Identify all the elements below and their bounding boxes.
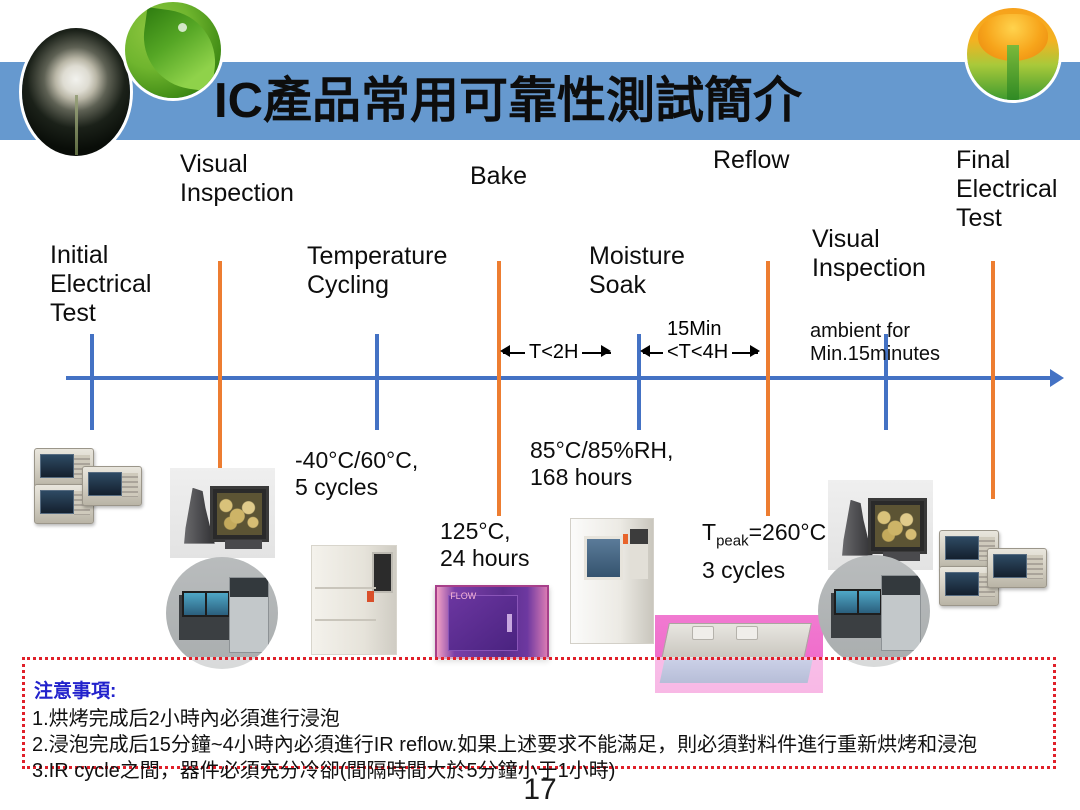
stage-label-visual-inspection-1: Visual Inspection [180, 150, 380, 208]
tpeak-value: =260°C [749, 519, 827, 545]
condition-reflow-tpeak: Tpeak=260°C [702, 519, 826, 550]
condition-moisture-soak: 85°C/85%RH, 168 hours [530, 437, 750, 490]
interval-label-t-lt-4h: <T<4H [663, 341, 732, 364]
notes-line-1: 1.烘烤完成后2小時內必須進行浸泡 [32, 702, 340, 731]
notes-title: 注意事項: [34, 676, 116, 703]
interval-arrow-left-soak-to-reflow [640, 345, 650, 357]
aoi-station-photo-1 [166, 557, 278, 669]
stage-label-bake: Bake [470, 162, 600, 191]
interval-label-bake-to-soak: T<2H [525, 341, 582, 364]
thermal-chamber-photo [311, 545, 397, 655]
microscope-photo-1 [170, 468, 275, 558]
tick-temperature-cycling [375, 334, 379, 430]
stage-label-temperature-cycling: Temperature Cycling [307, 242, 517, 300]
stage-label-reflow: Reflow [713, 146, 853, 175]
bake-oven-photo: FLOW [435, 585, 549, 659]
tick-initial-electrical-test [90, 334, 94, 430]
timeline-axis [66, 376, 1056, 380]
dandelion-photo [22, 28, 130, 156]
slide-canvas: IC產品常用可靠性測試簡介 Initial Electrical Test Vi… [0, 0, 1080, 810]
tick-final-electrical-test [991, 261, 995, 499]
interval-arrow-right-soak-to-reflow [750, 345, 760, 357]
stage-label-final-electrical-test: Final Electrical Test [956, 146, 1080, 233]
aoi-station-photo-2 [818, 555, 930, 667]
stage-label-moisture-soak: Moisture Soak [589, 242, 749, 300]
condition-visual-inspection-2: ambient for Min.15minutes [810, 320, 1010, 366]
tpeak-prefix: T [702, 519, 716, 545]
oscilloscope-photo-final [935, 530, 1080, 614]
interval-label-15min: 15Min [663, 318, 725, 341]
green-leaf-photo [125, 2, 221, 98]
interval-arrow-right-bake-to-soak [601, 345, 611, 357]
page-title: IC產品常用可靠性測試簡介 [214, 66, 914, 136]
page-number: 17 [0, 773, 1080, 807]
oscilloscope-photo-initial [22, 448, 172, 532]
condition-temperature-cycling: -40°C/60°C, 5 cycles [295, 447, 495, 500]
stage-label-initial-electrical-test: Initial Electrical Test [50, 241, 220, 328]
stage-label-visual-inspection-2: Visual Inspection [812, 225, 992, 283]
tpeak-subscript: peak [716, 533, 749, 550]
tick-reflow [766, 261, 770, 516]
notes-line-2: 2.浸泡完成后15分鐘~4小時內必須進行IR reflow.如果上述要求不能滿足… [32, 728, 977, 757]
condition-reflow-cycles: 3 cycles [702, 557, 785, 584]
timeline-axis-arrow-icon [1050, 369, 1064, 387]
tulip-photo [967, 8, 1059, 100]
interval-arrow-left-bake-to-soak [500, 345, 510, 357]
humidity-chamber-photo [570, 518, 654, 644]
